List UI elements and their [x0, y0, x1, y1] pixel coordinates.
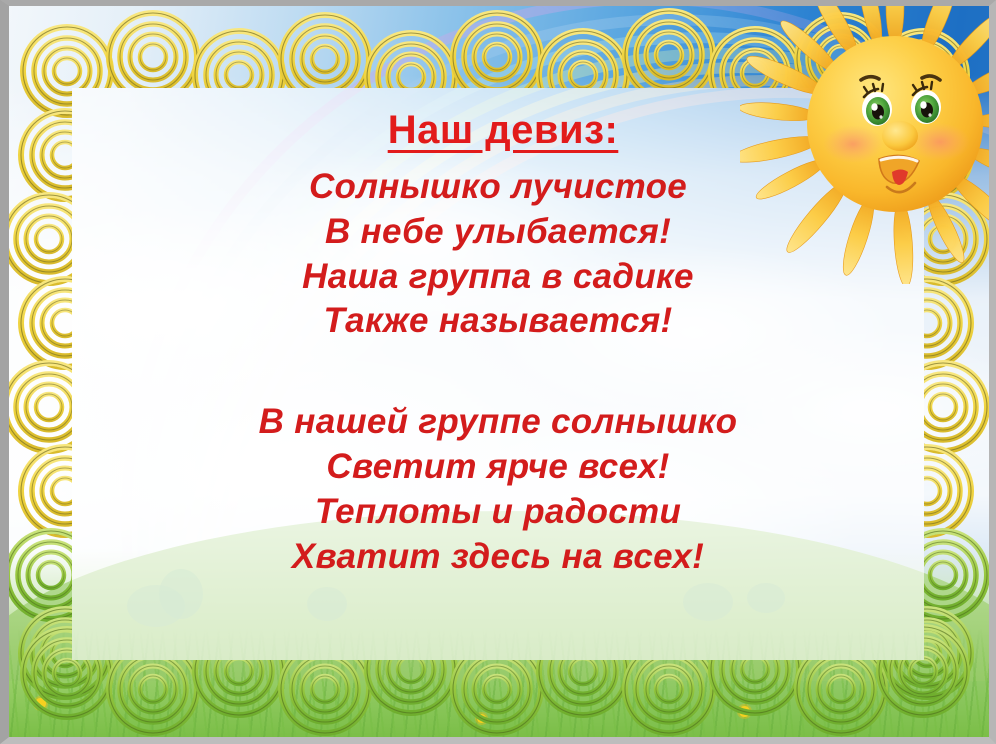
verse-line: В небе улыбается! [325, 210, 671, 255]
verse-line: Хватит здесь на всех! [292, 535, 704, 580]
verse-line: В нашей группе солнышко [259, 400, 738, 445]
flower-shape [35, 698, 46, 709]
stanza-2: В нашей группе солнышко Светит ярче всех… [72, 400, 924, 579]
slide-root: Наш девиз: Солнышко лучистое В небе улыб… [0, 0, 996, 744]
verse-line: Теплоты и радости [315, 490, 681, 535]
flower-shape [477, 714, 486, 723]
verse-line: Светит ярче всех! [326, 445, 669, 490]
flower-shape [739, 706, 750, 717]
verse-line: Наша группа в садике [302, 255, 694, 300]
stanza-1: Солнышко лучистое В небе улыбается! Наша… [72, 165, 924, 344]
motto-text-block: Наш девиз: Солнышко лучистое В небе улыб… [72, 88, 924, 660]
verse-line: Солнышко лучистое [309, 165, 687, 210]
page-title: Наш девиз: [378, 108, 619, 153]
verse-line: Также называется! [324, 299, 673, 344]
